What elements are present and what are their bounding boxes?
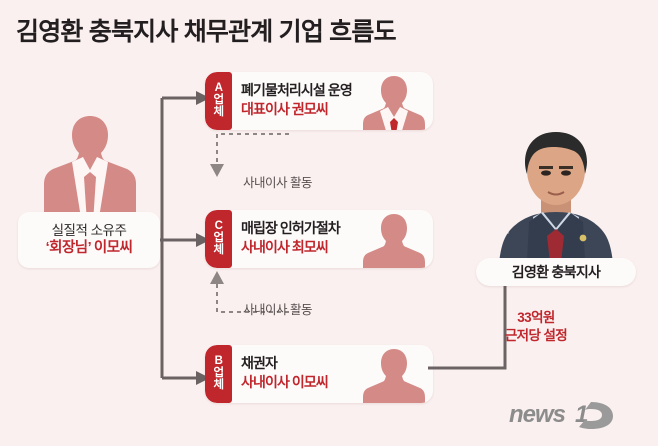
company-b-text: 채권자 사내이사 이모씨 (241, 354, 328, 391)
company-a-business: 폐기물처리시설 운영 (241, 81, 352, 100)
news1-logo-icon: news 1 (505, 398, 643, 432)
company-tab-a-char3: 체 (213, 107, 223, 119)
relation-label-a-to-c: 사내이사 활동 (243, 172, 312, 191)
company-card-b[interactable]: B 업 체 채권자 사내이사 이모씨 (205, 345, 433, 403)
person-silhouette-icon (44, 112, 136, 224)
company-card-a[interactable]: A 업 체 폐기물처리시설 운영 대표이사 권모씨 (205, 72, 433, 130)
mortgage-amount: 33억원 (476, 309, 596, 327)
company-tab-c: C 업 체 (205, 210, 232, 268)
company-c-officer: 사내이사 최모씨 (241, 238, 340, 257)
company-tab-c-char3: 체 (213, 245, 223, 257)
infographic-canvas: 김영환 충북지사 채무관계 기업 흐름도 실질적 소유주 ‘회장님’ 이모씨 A (0, 0, 658, 446)
owner-name: ‘회장님’ 이모씨 (46, 239, 133, 258)
person-silhouette-icon (363, 347, 425, 403)
governor-name-badge: 김영환 충북지사 (476, 258, 636, 286)
owner-label-box: 실질적 소유주 ‘회장님’ 이모씨 (18, 212, 160, 268)
owner-role: 실질적 소유주 (52, 222, 127, 239)
mortgage-label: 33억원 근저당 설정 (476, 309, 596, 344)
owner-node: 실질적 소유주 ‘회장님’ 이모씨 (18, 112, 160, 272)
page-title: 김영환 충북지사 채무관계 기업 흐름도 (16, 12, 396, 48)
person-silhouette-icon (363, 212, 425, 268)
person-silhouette-icon (363, 74, 425, 130)
svg-text:news: news (509, 401, 566, 428)
mortgage-type: 근저당 설정 (476, 327, 596, 345)
company-tab-b: B 업 체 (205, 345, 232, 403)
company-b-business: 채권자 (241, 354, 328, 373)
company-a-text: 폐기물처리시설 운영 대표이사 권모씨 (241, 81, 352, 118)
company-card-c[interactable]: C 업 체 매립장 인허가절차 사내이사 최모씨 (205, 210, 433, 268)
company-b-officer: 사내이사 이모씨 (241, 373, 328, 392)
relation-label-b-to-c: 사내이사 활동 (243, 299, 312, 318)
company-a-officer: 대표이사 권모씨 (241, 100, 352, 119)
company-c-text: 매립장 인허가절차 사내이사 최모씨 (241, 219, 340, 256)
company-tab-b-char3: 체 (213, 380, 223, 392)
company-c-business: 매립장 인허가절차 (241, 219, 340, 238)
company-tab-a: A 업 체 (205, 72, 232, 130)
